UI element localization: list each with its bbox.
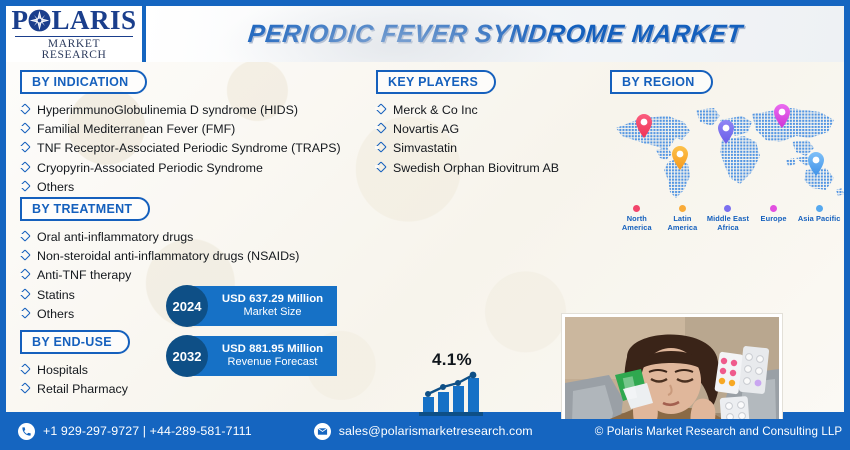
diamond-bullet-icon (20, 364, 31, 375)
list-item[interactable]: TNF Receptor-Associated Periodic Syndrom… (20, 139, 372, 158)
section-heading-region: BY REGION (610, 70, 713, 94)
legend-item-north-america[interactable]: North America (614, 205, 660, 232)
list-item-label: Merck & Co Inc (393, 104, 478, 116)
indication-list: HyperimmunoGlobulinemia D syndrome (HIDS… (20, 100, 372, 197)
market-value: USD 637.29 Million (222, 292, 323, 306)
list-item[interactable]: Familial Mediterranean Fever (FMF) (20, 119, 372, 138)
section-heading-indication: BY INDICATION (20, 70, 147, 94)
diamond-bullet-icon (20, 383, 31, 394)
list-item[interactable]: Cryopyrin-Associated Periodic Syndrome (20, 158, 372, 177)
section-heading-treatment: BY TREATMENT (20, 197, 150, 221)
market-year-badge: 2024 (166, 285, 208, 327)
legend-dot-icon (724, 205, 731, 212)
section-heading-end-use: BY END-USE (20, 330, 130, 354)
legend-label: Latin America (660, 215, 706, 232)
diamond-bullet-icon (20, 250, 31, 261)
list-item[interactable]: HyperimmunoGlobulinemia D syndrome (HIDS… (20, 100, 372, 119)
page-header: P LARIS MARKET RESEARCH PERIODIC FEVER S… (6, 6, 844, 62)
market-figure-bar: USD 637.29 Million Market Size (192, 286, 337, 326)
list-item-label: Cryopyrin-Associated Periodic Syndrome (37, 162, 263, 174)
logo-letter-p: P (11, 7, 28, 34)
hero-photo (562, 314, 782, 419)
cagr-percent: 4.1% (404, 350, 500, 370)
infographic-root: P LARIS MARKET RESEARCH PERIODIC FEVER S… (0, 0, 850, 450)
legend-item-europe[interactable]: Europe (751, 205, 797, 232)
cagr-block: 4.1% CAGR (2024-2032) (404, 350, 500, 419)
legend-label: Europe (751, 215, 797, 224)
market-year-badge: 2032 (166, 335, 208, 377)
diamond-bullet-icon (20, 142, 31, 153)
list-item[interactable]: Non-steroidal anti-inflammatory drugs (N… (20, 246, 372, 265)
logo-letters-laris: LARIS (51, 7, 136, 34)
legend-dot-icon (633, 205, 640, 212)
list-item[interactable]: Swedish Orphan Biovitrum AB (376, 158, 606, 177)
legend-dot-icon (816, 205, 823, 212)
legend-label: Middle East Africa (705, 215, 751, 232)
section-by-region: BY REGION (610, 70, 844, 232)
list-item[interactable]: Anti-TNF therapy (20, 266, 372, 285)
world-map-dotted-svg (610, 98, 844, 203)
market-label: Market Size (243, 306, 301, 320)
list-item-label: Novartis AG (393, 123, 459, 135)
section-heading-key-players: KEY PLAYERS (376, 70, 496, 94)
page-title: PERIODIC FEVER SYNDROME MARKET (246, 20, 743, 49)
list-item[interactable]: Simvastatin (376, 139, 606, 158)
legend-item-latin-america[interactable]: Latin America (660, 205, 706, 232)
footer-phone[interactable]: +1 929-297-9727 | +44-289-581-7111 (18, 423, 252, 440)
list-item[interactable]: Retail Pharmacy (20, 379, 250, 398)
list-item[interactable]: Oral anti-inflammatory drugs (20, 227, 372, 246)
diamond-bullet-icon (20, 181, 31, 192)
list-item-label: HyperimmunoGlobulinemia D syndrome (HIDS… (37, 104, 298, 116)
main-panel: BY INDICATION HyperimmunoGlobulinemia D … (6, 62, 844, 419)
footer-email-text: sales@polarismarketresearch.com (339, 424, 533, 438)
list-item-label: Simvastatin (393, 142, 457, 154)
market-value: USD 881.95 Million (222, 342, 323, 356)
region-legend: North America Latin America Middle East … (610, 205, 844, 232)
list-item-label: Non-steroidal anti-inflammatory drugs (N… (37, 250, 299, 262)
legend-label: Asia Pacific (796, 215, 842, 224)
diamond-bullet-icon (376, 162, 387, 173)
diamond-bullet-icon (20, 162, 31, 173)
diamond-bullet-icon (20, 104, 31, 115)
world-map (610, 98, 844, 203)
diamond-bullet-icon (20, 289, 31, 300)
market-label: Revenue Forecast (228, 356, 318, 370)
section-by-indication: BY INDICATION HyperimmunoGlobulinemia D … (20, 70, 372, 197)
key-players-list: Merck & Co Inc Novartis AG Simvastatin S… (376, 100, 606, 178)
legend-dot-icon (679, 205, 686, 212)
phone-icon (18, 423, 35, 440)
diamond-bullet-icon (376, 142, 387, 153)
title-banner: PERIODIC FEVER SYNDROME MARKET (146, 6, 844, 62)
compass-star-icon (28, 9, 51, 32)
list-item-label: Hospitals (37, 364, 88, 376)
list-item-label: Others (37, 181, 74, 193)
diamond-bullet-icon (20, 123, 31, 134)
list-item-label: Oral anti-inflammatory drugs (37, 231, 193, 243)
list-item[interactable]: Novartis AG (376, 119, 606, 138)
envelope-icon (314, 423, 331, 440)
footer-copyright: © Polaris Market Research and Consulting… (595, 425, 843, 438)
sick-woman-illustration (565, 317, 779, 419)
list-item-label: Statins (37, 289, 75, 301)
footer-email[interactable]: sales@polarismarketresearch.com (314, 423, 533, 440)
list-item-label: Others (37, 308, 74, 320)
legend-item-asia-pacific[interactable]: Asia Pacific (796, 205, 842, 232)
brand-logo[interactable]: P LARIS MARKET RESEARCH (6, 6, 142, 62)
logo-wordmark: P LARIS (11, 7, 136, 34)
list-item-label: Retail Pharmacy (37, 383, 128, 395)
footer-phone-text: +1 929-297-9727 | +44-289-581-7111 (43, 424, 252, 438)
market-figure-bar: USD 881.95 Million Revenue Forecast (192, 336, 337, 376)
list-item-label: Anti-TNF therapy (37, 269, 131, 281)
logo-tagline: MARKET RESEARCH (15, 36, 133, 62)
diamond-bullet-icon (376, 123, 387, 134)
list-item[interactable]: Others (20, 178, 372, 197)
section-key-players: KEY PLAYERS Merck & Co Inc Novartis AG S… (376, 70, 606, 178)
legend-item-middle-east-africa[interactable]: Middle East Africa (705, 205, 751, 232)
list-item-label: Familial Mediterranean Fever (FMF) (37, 123, 235, 135)
growth-bar-chart-icon (415, 370, 489, 418)
diamond-bullet-icon (20, 231, 31, 242)
diamond-bullet-icon (20, 308, 31, 319)
list-item-label: TNF Receptor-Associated Periodic Syndrom… (37, 142, 341, 154)
list-item[interactable]: Merck & Co Inc (376, 100, 606, 119)
diamond-bullet-icon (376, 104, 387, 115)
legend-dot-icon (770, 205, 777, 212)
legend-label: North America (614, 215, 660, 232)
list-item-label: Swedish Orphan Biovitrum AB (393, 162, 559, 174)
diamond-bullet-icon (20, 269, 31, 280)
